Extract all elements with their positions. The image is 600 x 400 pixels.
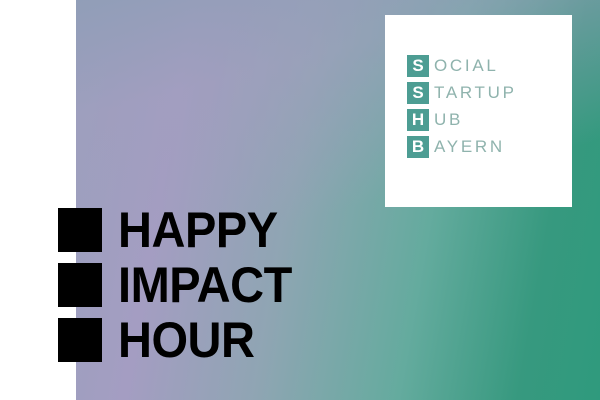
headline-row-impact: IMPACT bbox=[58, 262, 303, 308]
logo-card: S OCIAL S TARTUP H UB B AYERN bbox=[385, 15, 572, 207]
logo-word-bayern: AYERN bbox=[434, 136, 505, 158]
headline-block: HAPPY IMPACT HOUR bbox=[58, 207, 303, 363]
marker-square-icon-1 bbox=[58, 208, 102, 252]
logo-row-social: S OCIAL bbox=[407, 55, 517, 77]
headline-row-happy: HAPPY bbox=[58, 207, 303, 253]
logo-word-startup: TARTUP bbox=[434, 82, 517, 104]
logo-row-bayern: B AYERN bbox=[407, 136, 517, 158]
headline-text-impact: IMPACT bbox=[118, 262, 292, 308]
headline-row-hour: HOUR bbox=[58, 317, 303, 363]
logo-word-hub: UB bbox=[434, 109, 463, 131]
logo-wordmark: S OCIAL S TARTUP H UB B AYERN bbox=[407, 55, 517, 158]
logo-badge-s1: S bbox=[407, 55, 429, 77]
logo-word-social: OCIAL bbox=[434, 55, 499, 77]
logo-row-startup: S TARTUP bbox=[407, 82, 517, 104]
poster-canvas: S OCIAL S TARTUP H UB B AYERN HAPPY bbox=[0, 0, 600, 400]
headline-text-happy: HAPPY bbox=[118, 207, 278, 253]
marker-square-icon-2 bbox=[58, 263, 102, 307]
headline-text-hour: HOUR bbox=[118, 317, 255, 363]
logo-row-hub: H UB bbox=[407, 109, 517, 131]
logo-badge-b: B bbox=[407, 136, 429, 158]
logo-badge-h: H bbox=[407, 109, 429, 131]
logo-badge-s2: S bbox=[407, 82, 429, 104]
marker-square-icon-3 bbox=[58, 318, 102, 362]
